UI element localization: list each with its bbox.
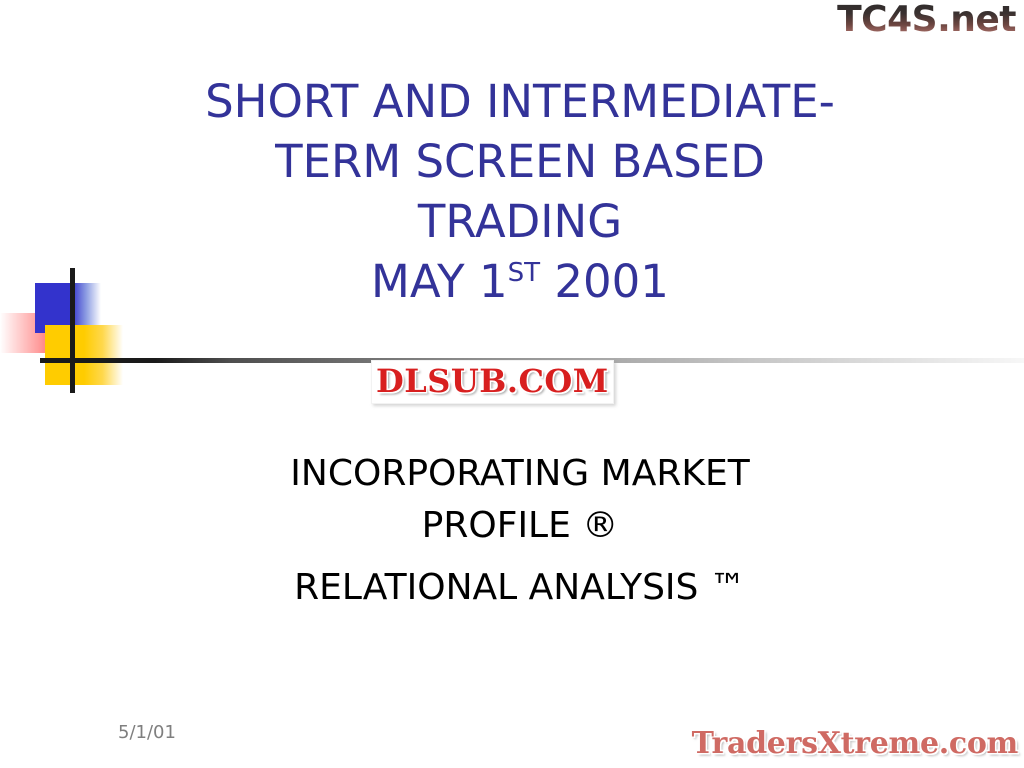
subtitle-line-3: RELATIONAL ANALYSIS ™ <box>150 562 890 614</box>
title-date-ordinal: ST <box>508 258 541 288</box>
tradersxtreme-watermark: TradersXtreme.com <box>692 726 1018 762</box>
vertical-rule <box>70 268 75 393</box>
decorative-motif <box>0 255 260 400</box>
yellow-square <box>45 325 123 385</box>
title-line-3: TRADING <box>140 192 900 252</box>
title-line-2: TERM SCREEN BASED <box>140 132 900 192</box>
subtitle-line-1: INCORPORATING MARKET <box>150 448 890 500</box>
slide-subtitle: INCORPORATING MARKET PROFILE ® RELATIONA… <box>150 448 890 614</box>
presentation-slide: TC4S.net SHORT AND INTERMEDIATE- TERM SC… <box>0 0 1024 768</box>
dlsub-watermark: DLSUB.COM <box>371 360 614 404</box>
title-line-1: SHORT AND INTERMEDIATE- <box>140 72 900 132</box>
subtitle-line-2: PROFILE ® <box>150 500 890 552</box>
slide-date: 5/1/01 <box>118 722 176 744</box>
title-date-prefix: MAY 1 <box>371 255 508 308</box>
title-date-year: 2001 <box>540 255 669 308</box>
tc4s-watermark: TC4S.net <box>837 2 1016 38</box>
